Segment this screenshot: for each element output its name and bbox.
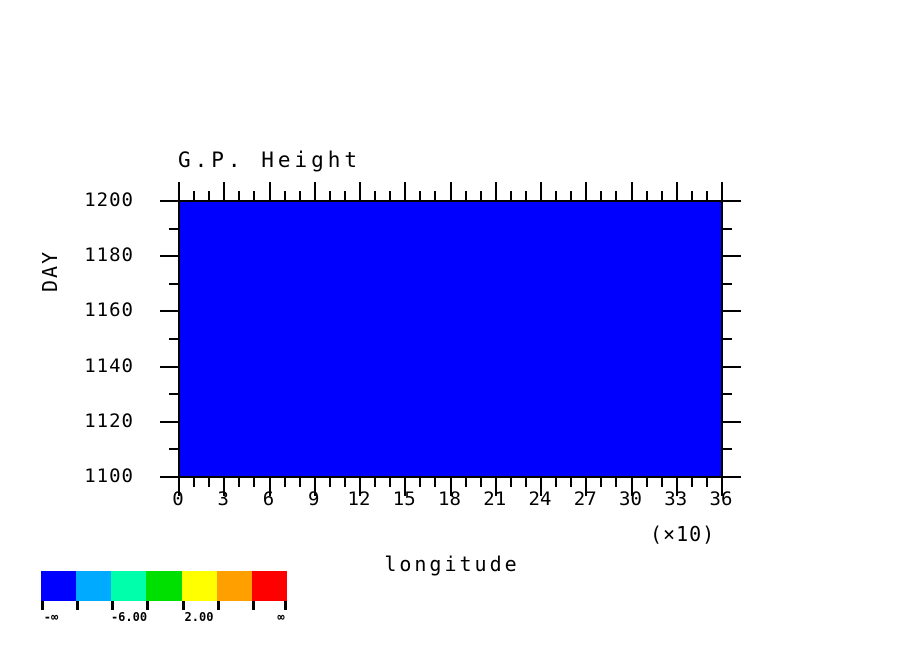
tick-mark: [160, 476, 178, 478]
colorbar-segment: [41, 571, 76, 601]
colorbar-segment: [146, 571, 181, 601]
tick-mark: [721, 182, 723, 200]
colorbar-label-mid1: -6.00: [111, 610, 147, 624]
tick-mark: [169, 393, 178, 395]
tick-mark: [238, 191, 240, 200]
tick-mark: [540, 182, 542, 200]
tick-mark: [631, 182, 633, 200]
tick-mark: [160, 255, 178, 257]
tick-mark: [600, 478, 602, 487]
tick-mark: [570, 478, 572, 487]
x-tick-label: 30: [619, 488, 642, 510]
x-tick-label: 27: [574, 488, 597, 510]
tick-mark: [723, 283, 732, 285]
page-title: G.P. Height: [178, 148, 361, 172]
tick-mark: [193, 191, 195, 200]
tick-mark: [661, 478, 663, 487]
colorbar-tick: [252, 601, 255, 610]
tick-mark: [169, 283, 178, 285]
x-axis-ticks-top: [178, 182, 723, 200]
colorbar-label-max: ∞: [277, 610, 284, 624]
x-tick-label: 24: [529, 488, 552, 510]
tick-mark: [160, 366, 178, 368]
tick-mark: [706, 191, 708, 200]
colorbar-segment: [111, 571, 146, 601]
tick-mark: [434, 191, 436, 200]
tick-mark: [525, 478, 527, 487]
tick-mark: [691, 191, 693, 200]
colorbar-segment: [217, 571, 252, 601]
tick-mark: [723, 366, 741, 368]
tick-mark: [284, 478, 286, 487]
tick-mark: [480, 191, 482, 200]
tick-mark: [510, 191, 512, 200]
tick-mark: [374, 478, 376, 487]
tick-mark: [525, 191, 527, 200]
x-tick-label: 0: [172, 488, 183, 510]
colorbar-tick: [284, 601, 287, 610]
y-axis-tick-labels: 110011201140116011801200: [0, 200, 158, 478]
tick-mark: [389, 478, 391, 487]
tick-mark: [169, 338, 178, 340]
colorbar-tick: [217, 601, 220, 610]
tick-mark: [585, 182, 587, 200]
colorbar: -∞ -6.00 2.00 ∞: [41, 571, 287, 629]
tick-mark: [495, 182, 497, 200]
tick-mark: [299, 191, 301, 200]
colorbar-tick: [182, 601, 185, 610]
y-tick-label: 1200: [84, 189, 134, 211]
colorbar-labels: -∞ -6.00 2.00 ∞: [41, 610, 287, 629]
tick-mark: [600, 191, 602, 200]
tick-mark: [646, 478, 648, 487]
tick-mark: [419, 478, 421, 487]
tick-mark: [646, 191, 648, 200]
tick-mark: [299, 478, 301, 487]
tick-mark: [160, 200, 178, 202]
tick-mark: [223, 182, 225, 200]
x-axis-multiplier: (×10): [650, 522, 715, 546]
colorbar-label-min: -∞: [44, 610, 58, 624]
tick-mark: [465, 191, 467, 200]
tick-mark: [723, 476, 741, 478]
tick-mark: [691, 478, 693, 487]
y-tick-label: 1160: [84, 299, 134, 321]
tick-mark: [723, 338, 732, 340]
x-tick-label: 21: [483, 488, 506, 510]
tick-mark: [723, 255, 741, 257]
tick-mark: [555, 478, 557, 487]
tick-mark: [723, 421, 741, 423]
colorbar-segment: [252, 571, 287, 601]
colorbar-tick: [41, 601, 44, 610]
x-axis-tick-labels: 0369121518212427303336: [178, 488, 723, 514]
tick-mark: [555, 191, 557, 200]
y-tick-label: 1120: [84, 410, 134, 432]
colorbar-tick: [76, 601, 79, 610]
y-tick-label: 1180: [84, 244, 134, 266]
tick-mark: [615, 478, 617, 487]
tick-mark: [208, 478, 210, 487]
tick-mark: [450, 182, 452, 200]
tick-mark: [404, 182, 406, 200]
tick-mark: [160, 421, 178, 423]
tick-mark: [344, 478, 346, 487]
tick-mark: [723, 393, 732, 395]
tick-mark: [480, 478, 482, 487]
colorbar-label-mid2: 2.00: [185, 610, 214, 624]
x-tick-label: 36: [710, 488, 733, 510]
tick-mark: [284, 191, 286, 200]
x-tick-label: 9: [308, 488, 319, 510]
tick-mark: [570, 191, 572, 200]
tick-mark: [419, 191, 421, 200]
tick-mark: [676, 182, 678, 200]
heatmap-canvas: [180, 202, 721, 476]
colorbar-tick: [146, 601, 149, 610]
tick-mark: [160, 310, 178, 312]
tick-mark: [344, 191, 346, 200]
tick-mark: [253, 478, 255, 487]
y-axis-title: DAY: [38, 250, 62, 292]
tick-mark: [178, 182, 180, 200]
tick-mark: [329, 478, 331, 487]
tick-mark: [169, 228, 178, 230]
tick-mark: [253, 191, 255, 200]
tick-mark: [434, 478, 436, 487]
y-tick-label: 1140: [84, 355, 134, 377]
tick-mark: [723, 448, 732, 450]
colorbar-segment: [76, 571, 111, 601]
y-axis-ticks-right: [723, 200, 741, 478]
x-tick-label: 15: [393, 488, 416, 510]
x-tick-label: 12: [348, 488, 371, 510]
x-tick-label: 18: [438, 488, 461, 510]
tick-mark: [314, 182, 316, 200]
tick-mark: [208, 191, 210, 200]
tick-mark: [169, 448, 178, 450]
tick-mark: [269, 182, 271, 200]
tick-mark: [465, 478, 467, 487]
tick-mark: [661, 191, 663, 200]
plot-area: [178, 200, 723, 478]
tick-mark: [723, 310, 741, 312]
tick-mark: [193, 478, 195, 487]
x-tick-label: 33: [664, 488, 687, 510]
tick-mark: [510, 478, 512, 487]
colorbar-strip: [41, 571, 287, 601]
colorbar-ticks: [41, 601, 287, 610]
tick-mark: [389, 191, 391, 200]
tick-mark: [238, 478, 240, 487]
tick-mark: [723, 228, 732, 230]
colorbar-tick: [111, 601, 114, 610]
y-tick-label: 1100: [84, 465, 134, 487]
x-tick-label: 3: [218, 488, 229, 510]
tick-mark: [374, 191, 376, 200]
tick-mark: [329, 191, 331, 200]
tick-mark: [359, 182, 361, 200]
colorbar-segment: [182, 571, 217, 601]
figure-root: G.P. Height 0369121518212427303336 11001…: [0, 0, 904, 654]
y-axis-ticks-left: [160, 200, 178, 478]
x-tick-label: 6: [263, 488, 274, 510]
tick-mark: [615, 191, 617, 200]
tick-mark: [706, 478, 708, 487]
tick-mark: [723, 200, 741, 202]
